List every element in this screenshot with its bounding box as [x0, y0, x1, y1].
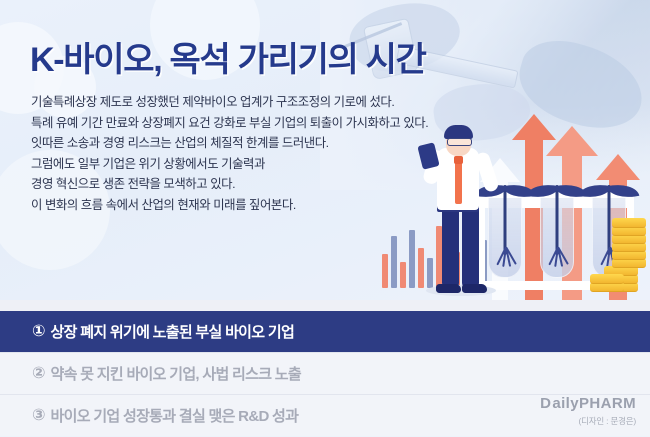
logo-mark: D — [540, 396, 551, 411]
coin-stack — [588, 218, 648, 292]
list-item-label: 바이오 기업 성장통과 결실 맺은 R&D 성과 — [51, 405, 299, 426]
list-item-label: 약속 못 지킨 바이오 기업, 사법 리스크 노출 — [51, 363, 301, 384]
figure-shoe — [462, 284, 487, 293]
plant-root — [497, 241, 513, 267]
figure-leg — [442, 202, 459, 288]
figure-hair — [444, 125, 473, 139]
list-item-2[interactable]: ② 약속 못 지킨 바이오 기업, 사법 리스크 노출 — [0, 352, 650, 394]
figure-shoe — [436, 284, 461, 293]
page-title: K-바이오, 옥석 가리기의 시간 — [30, 32, 426, 81]
test-tube — [540, 194, 574, 278]
illustration-growth-bio — [382, 90, 650, 300]
list-item-number: ③ — [32, 408, 46, 424]
tablet-icon — [417, 142, 439, 169]
list-item-number: ① — [32, 324, 46, 340]
chart-bar — [391, 236, 397, 288]
figure-leg — [462, 202, 479, 288]
businessman-illustration — [424, 128, 496, 296]
dailypharm-logo[interactable]: DailyPHARM — [540, 396, 636, 411]
glasses-icon — [447, 138, 472, 146]
brand-footer: DailyPHARM (디자인 : 문경은) — [540, 396, 636, 427]
section-divider — [0, 300, 650, 311]
coin — [590, 274, 624, 284]
hero-section: K-바이오, 옥석 가리기의 시간 기술특례상장 제도로 성장했던 제약바이오 … — [0, 0, 650, 300]
logo-wordmark: ailyPHARM — [552, 395, 636, 412]
figure-tie — [455, 162, 462, 204]
chart-bar — [400, 262, 406, 288]
infographic-poster: K-바이오, 옥석 가리기의 시간 기술특례상장 제도로 성장했던 제약바이오 … — [0, 0, 650, 437]
coin — [612, 218, 646, 228]
chart-bar — [409, 230, 415, 288]
list-item-1[interactable]: ① 상장 폐지 위기에 노출된 부실 바이오 기업 — [0, 311, 650, 352]
list-item-label: 상장 폐지 위기에 노출된 부실 바이오 기업 — [51, 321, 295, 342]
list-item-number: ② — [32, 366, 46, 382]
figure-tie-knot — [454, 156, 463, 164]
chart-bar — [382, 254, 388, 288]
plant-root — [549, 241, 565, 267]
design-credit: (디자인 : 문경은) — [540, 415, 636, 427]
